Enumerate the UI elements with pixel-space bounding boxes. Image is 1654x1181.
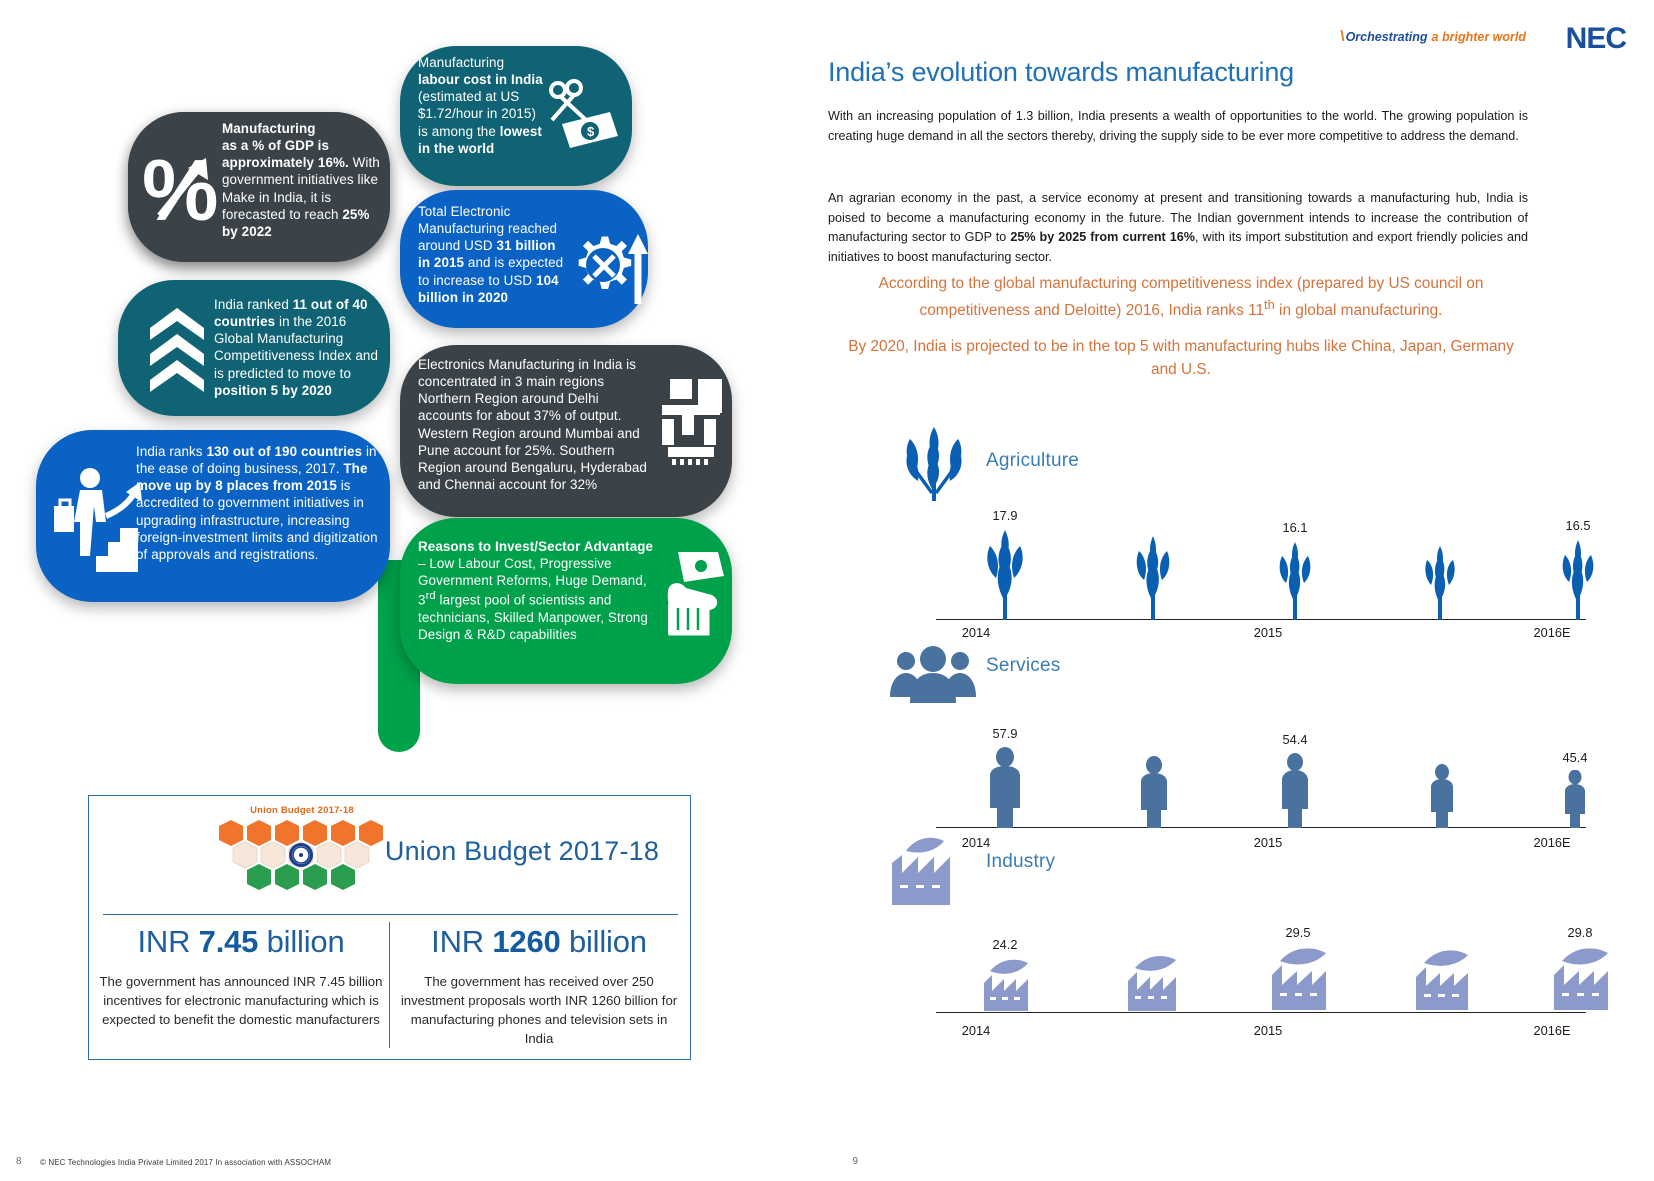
- data-label: 54.4: [1283, 732, 1308, 747]
- bubble-labour-cost-text: Manufacturing labour cost in India (esti…: [418, 54, 548, 157]
- billion-suffix-right: billion: [561, 924, 647, 959]
- highlight-line-1: According to the global manufacturing co…: [836, 272, 1526, 323]
- chart-agriculture-label: Agriculture: [986, 450, 1079, 472]
- x-tick-label: 2014: [936, 1023, 1016, 1038]
- ordinal-suffix: th: [1264, 297, 1275, 312]
- data-label: 16.1: [1283, 520, 1308, 535]
- page-title: India’s evolution towards manufacturing: [828, 57, 1294, 88]
- chart-services-label: Services: [986, 655, 1060, 677]
- x-tick-label: 2016E: [1512, 1023, 1592, 1038]
- right-page: \ Orchestrating a brighter world NEC Ind…: [800, 0, 1654, 1181]
- scissors-money-icon: $: [540, 78, 622, 160]
- data-point: [1122, 882, 1180, 1013]
- left-page: % Manufacturingas a % of GDP isapproxima…: [0, 0, 800, 1181]
- businessman-stairs-icon: [50, 460, 150, 578]
- bubble-regions-text: Electronics Manufacturing in India is co…: [418, 356, 656, 493]
- chart-agriculture: Agriculture 17.9: [828, 415, 1628, 630]
- bubble-electronic-manufacturing-text: Total Electronic Manufacturing reached a…: [418, 203, 570, 306]
- data-point: 45.4: [1560, 684, 1590, 828]
- highlight-line-1b: in global manufacturing.: [1275, 303, 1443, 320]
- gear-tools-icon: [572, 218, 654, 304]
- union-budget-divider: [103, 914, 678, 915]
- x-tick-label: 2015: [1228, 1023, 1308, 1038]
- union-budget-right-column: INR 1260 billion The government has rece…: [397, 924, 681, 1049]
- data-point: 16.1: [1273, 476, 1317, 620]
- union-budget-left-column: INR 7.45 billion The government has anno…: [99, 924, 383, 1029]
- amount-left: 7.45: [199, 924, 259, 959]
- union-budget-title: Union Budget 2017-18: [357, 836, 687, 867]
- data-point: [1426, 684, 1458, 828]
- data-point: 29.8: [1548, 882, 1612, 1013]
- data-point: 17.9: [980, 476, 1030, 620]
- amount-right: 1260: [492, 924, 560, 959]
- union-budget-right-amount: INR 1260 billion: [397, 924, 681, 960]
- data-point: 24.2: [978, 882, 1032, 1013]
- data-point: [1136, 684, 1172, 828]
- union-budget-hex-label: Union Budget 2017-18: [207, 805, 397, 816]
- bubble-gmci-rank-text: India ranked 11 out of 40 countries in t…: [214, 296, 380, 399]
- hand-money-icon: [662, 548, 730, 636]
- nec-logo: NEC: [1566, 22, 1626, 56]
- chart-services: Services 57.9: [828, 625, 1628, 840]
- economy-paragraph-bold: 25% by 2025 from current 16%: [1010, 230, 1195, 244]
- infographic-page: % Manufacturingas a % of GDP isapproxima…: [0, 0, 1654, 1181]
- percent-icon: %: [140, 128, 224, 238]
- data-label: 29.5: [1286, 925, 1311, 940]
- data-label: 29.8: [1568, 925, 1593, 940]
- chart-agriculture-plot: 17.9: [936, 475, 1586, 620]
- inr-prefix-right: INR: [431, 924, 492, 959]
- data-point: 54.4: [1276, 684, 1314, 828]
- data-point: [1419, 476, 1461, 620]
- data-label: 57.9: [993, 726, 1018, 741]
- orchestrating-text: Orchestrating: [1346, 30, 1428, 44]
- billion-suffix-left: billion: [258, 924, 344, 959]
- chart-industry: Industry 24.2: [828, 825, 1628, 1040]
- data-point: 29.5: [1266, 882, 1330, 1013]
- bubble-stem-tip: [378, 700, 420, 752]
- factory-press-icon: [658, 375, 730, 471]
- slash-icon: \: [1340, 28, 1344, 45]
- union-budget-right-desc: The government has received over 250 inv…: [397, 972, 681, 1049]
- data-label: 17.9: [993, 508, 1018, 523]
- economy-paragraph: An agrarian economy in the past, a servi…: [828, 189, 1528, 267]
- union-budget-left-amount: INR 7.45 billion: [99, 924, 383, 960]
- page-number-left: 8: [16, 1156, 22, 1167]
- bubble-ease-of-doing-business-text: India ranks 130 out of 190 countries in …: [136, 443, 384, 563]
- data-point: 57.9: [984, 684, 1026, 828]
- brighter-world-text: a brighter world: [1432, 30, 1526, 44]
- chevrons-up-icon: [146, 302, 208, 394]
- intro-paragraph: With an increasing population of 1.3 bil…: [828, 107, 1528, 146]
- highlight-line-2: By 2020, India is projected to be in the…: [836, 335, 1526, 382]
- highlight-block: According to the global manufacturing co…: [836, 272, 1526, 382]
- chart-agriculture-axis: [936, 619, 1586, 620]
- data-label: 45.4: [1563, 750, 1588, 765]
- union-budget-header: Union Budget 2017-18: [89, 796, 690, 911]
- page-number-right: 9: [852, 1156, 858, 1167]
- bubble-gdp-text: Manufacturingas a % of GDP isapproximate…: [222, 120, 380, 240]
- data-point: [1130, 476, 1176, 620]
- union-budget-card: Union Budget 2017-18: [88, 795, 691, 1060]
- chart-industry-label: Industry: [986, 851, 1055, 873]
- chart-services-plot: 57.9 54.4: [936, 683, 1586, 828]
- data-label: 24.2: [993, 937, 1018, 952]
- chart-industry-plot: 24.2: [936, 881, 1586, 1013]
- data-point: [1410, 882, 1472, 1013]
- data-point: 16.5: [1556, 476, 1600, 620]
- inr-prefix-left: INR: [137, 924, 198, 959]
- nec-tagline: \ Orchestrating a brighter world: [1340, 28, 1526, 45]
- copyright-text: © NEC Technologies India Private Limited…: [40, 1158, 331, 1167]
- union-budget-vertical-divider: [389, 922, 390, 1048]
- bubble-reasons-to-invest-text: Reasons to Invest/Sector Advantage– Low …: [418, 538, 662, 643]
- svg-text:$: $: [587, 124, 595, 139]
- union-budget-left-desc: The government has announced INR 7.45 bi…: [99, 972, 383, 1029]
- chart-industry-axis: [936, 1012, 1586, 1013]
- data-label: 16.5: [1566, 518, 1591, 533]
